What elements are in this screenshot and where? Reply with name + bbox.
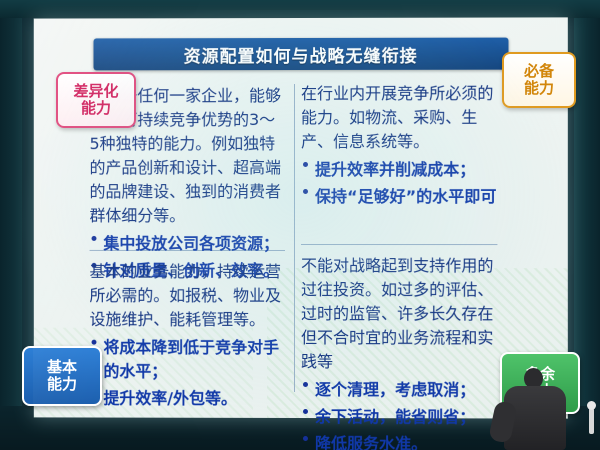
callout-differentiating-capability: 差异化 能力: [56, 72, 136, 128]
callout-essential-capability: 必备 能力: [502, 52, 576, 108]
list-item: 降低服务水准。: [301, 430, 497, 450]
wall-left: [0, 0, 22, 450]
vertical-divider: [294, 84, 295, 392]
list-item: 将成本降到低于竞争对手的水平；: [90, 334, 285, 382]
quadrant-surplus: 不能对战略起到支持作用的过往投资。如过多的评估、过时的监管、许多长久存在但不合时…: [301, 252, 497, 450]
quadrant-basic-paragraph: 基本的业务能力，持续运营所必需的。如报税、物业及设施维护、能耗管理等。: [90, 258, 285, 330]
list-item: 集中投放公司各项资源；: [90, 230, 285, 254]
quadrant-essential: 在行业内开展竞争所必须的能力。如物流、采购、生产、信息系统等。 提升效率并削减成…: [301, 80, 497, 210]
list-item: 保持“足够好”的水平即可: [301, 183, 497, 207]
slide-title: 资源配置如何与战略无缝衔接: [184, 41, 418, 66]
slide-title-bar: 资源配置如何与战略无缝衔接: [94, 38, 509, 71]
list-item: 提升效率并削减成本；: [301, 156, 497, 180]
microphone-icon: [589, 408, 594, 434]
list-item: 提升效率/外包等。: [90, 385, 285, 409]
callout-basic-line1: 基本: [47, 359, 77, 376]
quadrant-surplus-paragraph: 不能对战略起到支持作用的过往投资。如过多的评估、过时的监管、许多长久存在但不合时…: [301, 252, 497, 372]
ceiling-band: [0, 0, 600, 18]
quadrant-basic: 基本的业务能力，持续运营所必需的。如报税、物业及设施维护、能耗管理等。 将成本降…: [90, 258, 285, 412]
horizontal-divider-right: [301, 244, 497, 245]
callout-basic-line2: 能力: [47, 376, 77, 393]
quadrant-surplus-bullets: 逐个清理，考虑取消； 余下活动，能省则省； 降低服务水准。: [301, 376, 497, 450]
quadrant-essential-bullets: 提升效率并削减成本； 保持“足够好”的水平即可: [301, 156, 497, 207]
callout-differentiating-line1: 差异化: [73, 83, 118, 100]
callout-essential-line1: 必备: [524, 63, 554, 80]
list-item: 余下活动，能省则省；: [301, 403, 497, 427]
callout-essential-line2: 能力: [524, 80, 554, 97]
presenter-silhouette: [488, 364, 580, 450]
quadrant-essential-paragraph: 在行业内开展竞争所必须的能力。如物流、采购、生产、信息系统等。: [301, 80, 497, 152]
slide-content: 有别于任何一家企业，能够带来可持续竞争优势的3～5种独特的能力。例如独特的产品创…: [90, 80, 514, 399]
callout-basic-capability: 基本 能力: [22, 346, 102, 406]
callout-differentiating-line2: 能力: [73, 100, 118, 117]
list-item: 逐个清理，考虑取消；: [301, 376, 497, 400]
quadrant-basic-bullets: 将成本降到低于竞争对手的水平； 提升效率/外包等。: [90, 334, 285, 409]
projection-scene: 资源配置如何与战略无缝衔接 有别于任何一家企业，能够带来可持续竞争优势的3～5种…: [0, 0, 600, 450]
